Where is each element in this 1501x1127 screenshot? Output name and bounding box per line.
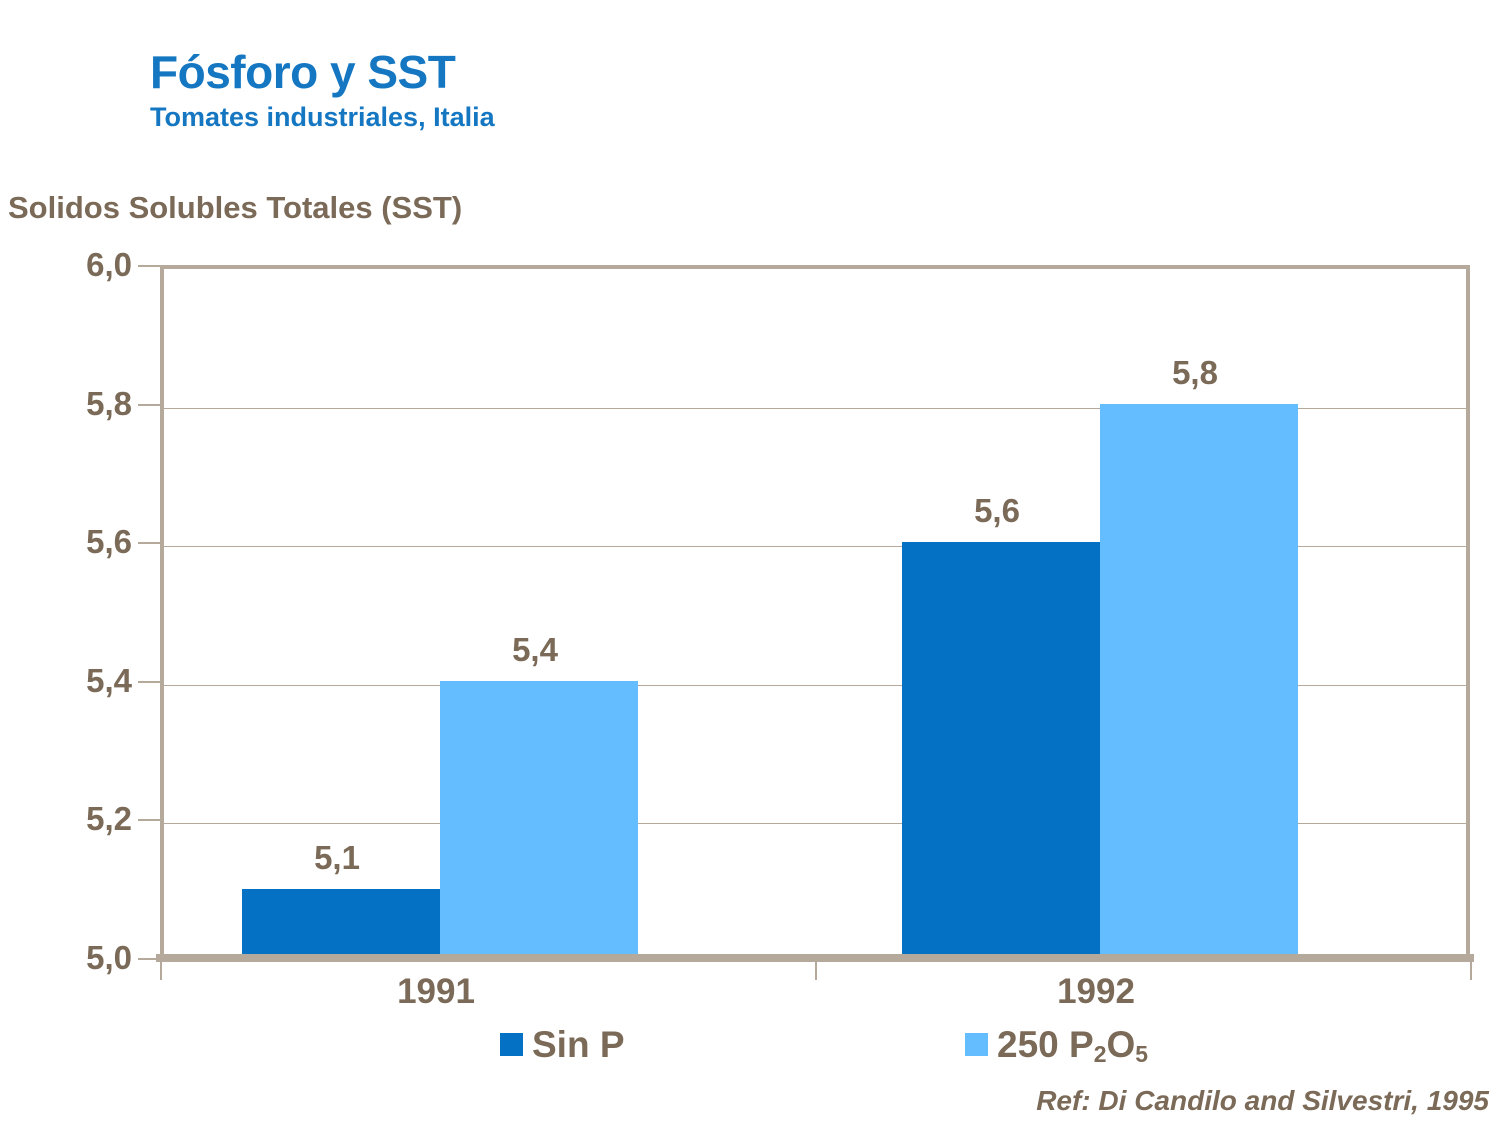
legend-item-sin-p[interactable]: Sin P — [500, 1026, 625, 1063]
bar-1991-sin-p[interactable] — [242, 889, 440, 958]
y-tick-label: 5,6 — [22, 523, 132, 561]
y-tick-label: 6,0 — [22, 246, 132, 284]
bar-1992-sin-p[interactable] — [902, 542, 1100, 958]
chart-title: Fósforo y SST — [150, 48, 495, 96]
y-tick-mark — [138, 404, 160, 406]
y-tick-label: 5,0 — [22, 939, 132, 977]
y-tick-label: 5,8 — [22, 385, 132, 423]
bar-value-label: 5,1 — [314, 839, 360, 877]
bar-1992-250-p2o5[interactable] — [1100, 404, 1298, 958]
y-tick-mark — [138, 819, 160, 821]
legend: Sin P250 P2O5 — [0, 1026, 1501, 1076]
y-tick-label: 5,2 — [22, 800, 132, 838]
category-separator-tick — [1470, 958, 1472, 980]
bar-value-label: 5,6 — [974, 492, 1020, 530]
y-tick-mark — [138, 681, 160, 683]
category-label-1991: 1991 — [397, 972, 475, 1012]
reference-note: Ref: Di Candilo and Silvestri, 1995 — [1036, 1085, 1489, 1117]
legend-label: Sin P — [532, 1026, 625, 1063]
bar-value-label: 5,8 — [1172, 354, 1218, 392]
legend-label: 250 P2O5 — [997, 1026, 1148, 1063]
legend-item-250-p2o5[interactable]: 250 P2O5 — [965, 1026, 1148, 1063]
legend-swatch-icon — [500, 1033, 523, 1056]
category-separator-tick — [160, 958, 162, 980]
legend-swatch-icon — [965, 1033, 988, 1056]
y-tick-mark — [138, 542, 160, 544]
bar-1991-250-p2o5[interactable] — [440, 681, 638, 958]
title-block: Fósforo y SST Tomates industriales, Ital… — [150, 48, 495, 133]
chart-subtitle: Tomates industriales, Italia — [150, 102, 495, 133]
category-label-1992: 1992 — [1057, 972, 1135, 1012]
bar-value-label: 5,4 — [512, 631, 558, 669]
category-separator-tick — [815, 958, 817, 980]
y-axis-tick-labels: 5,05,25,45,65,86,0 — [0, 0, 132, 1127]
y-tick-mark — [138, 265, 160, 267]
y-tick-label: 5,4 — [22, 662, 132, 700]
